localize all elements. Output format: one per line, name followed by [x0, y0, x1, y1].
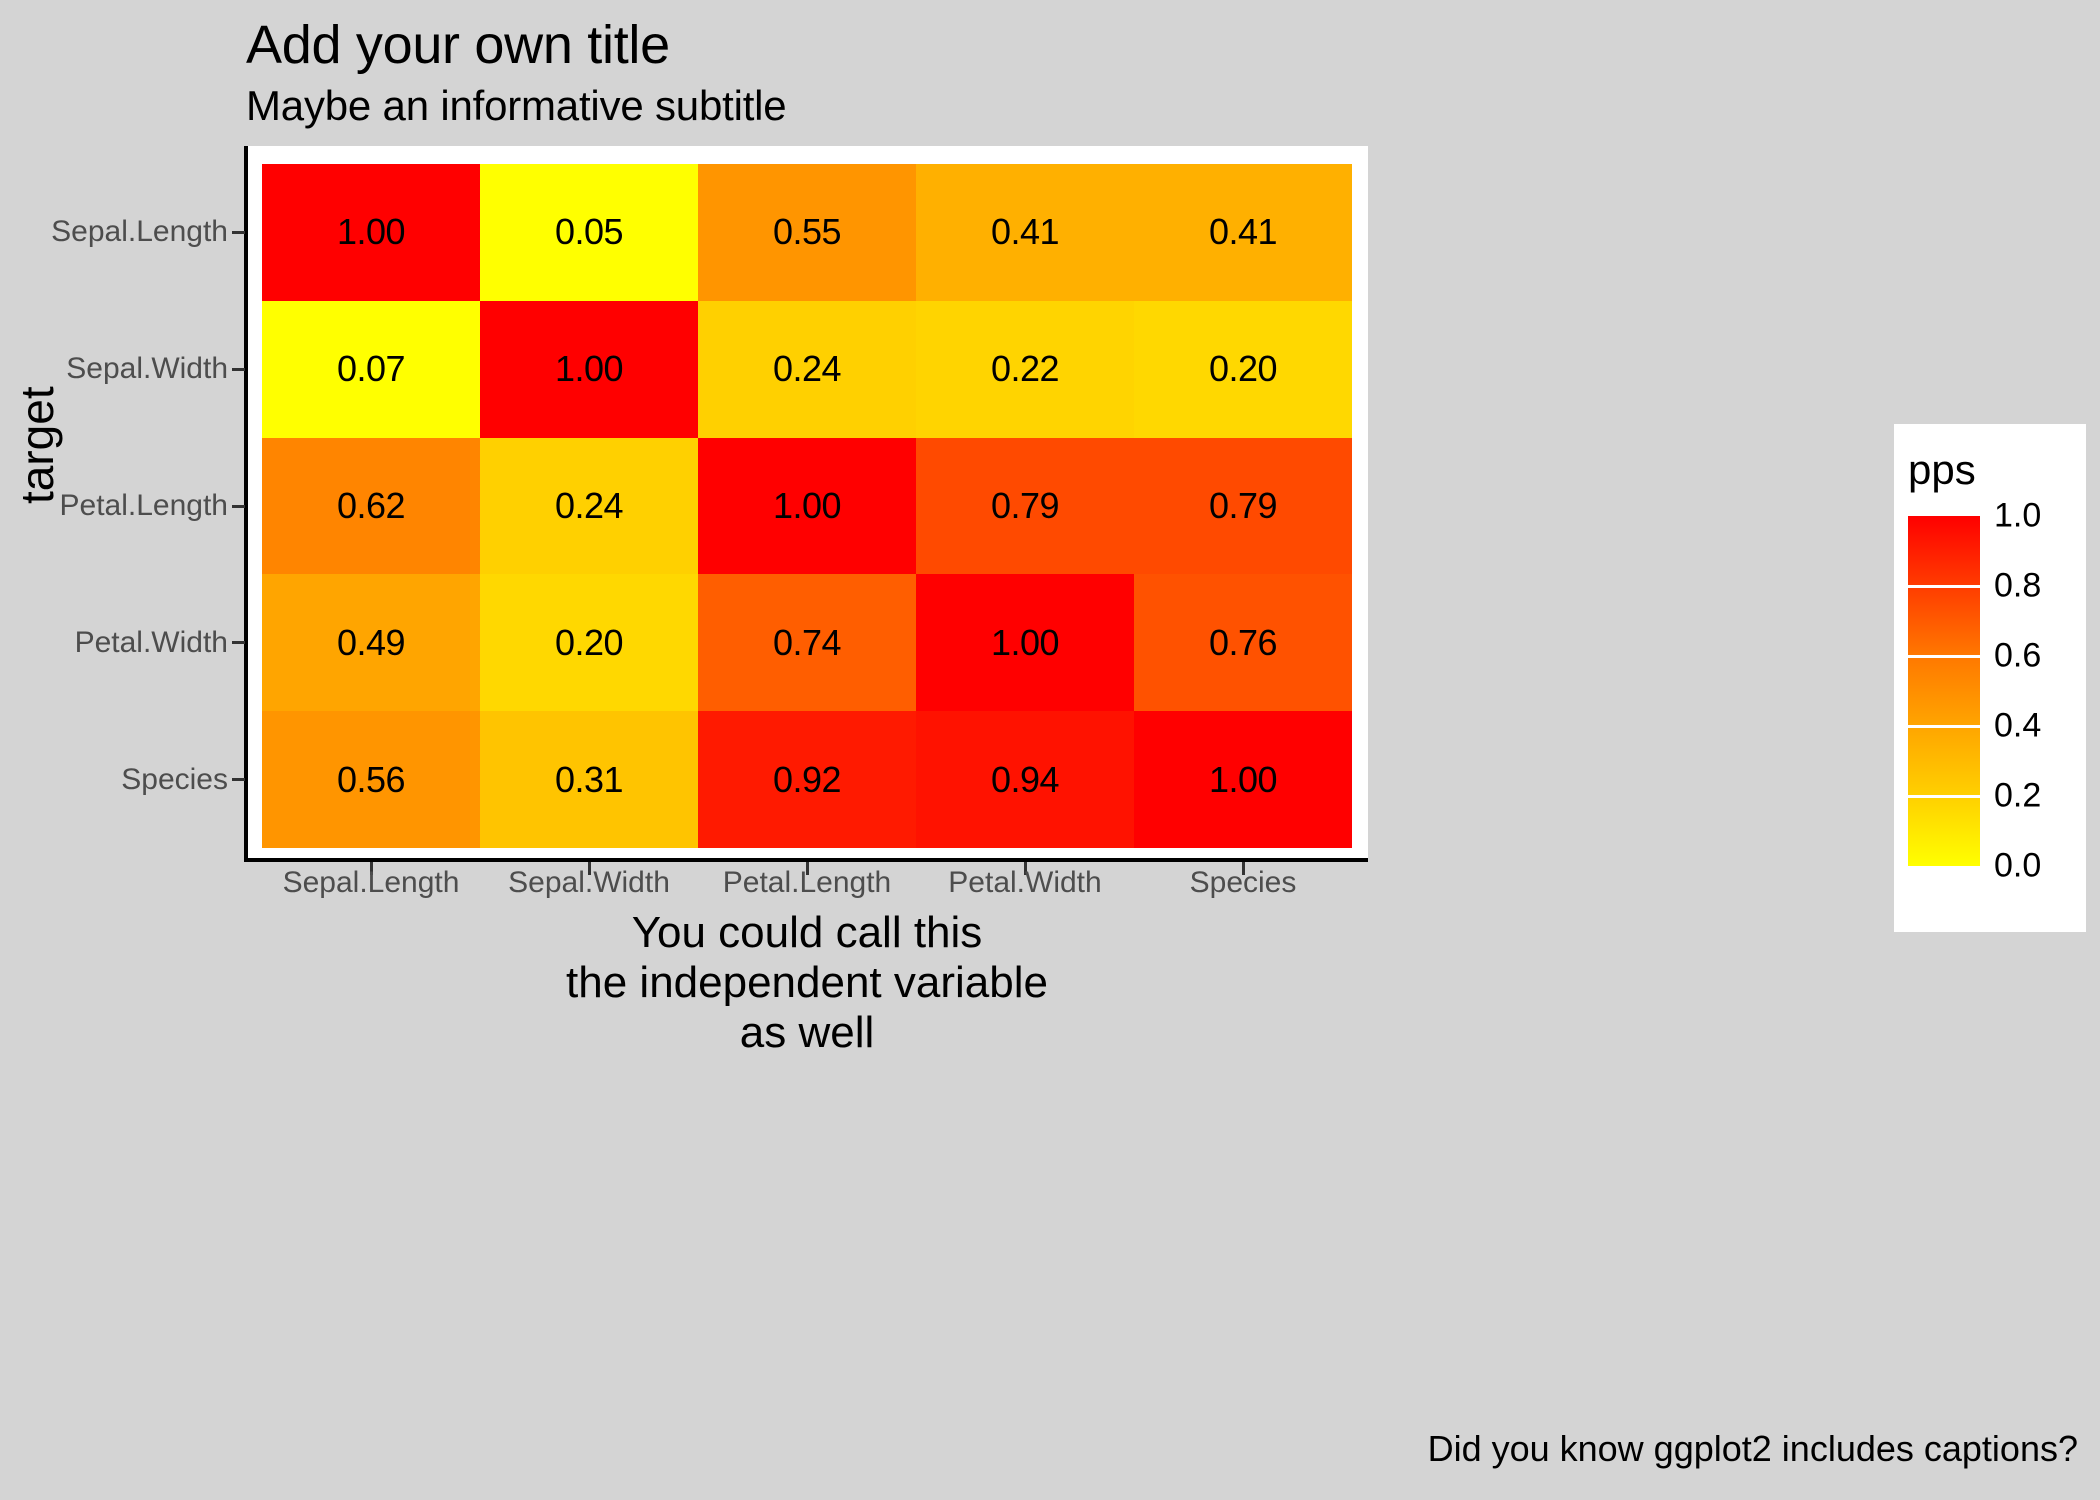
- legend-tick-label: 0.2: [1994, 777, 2041, 816]
- heatmap-cell: 0.07: [262, 301, 480, 438]
- heatmap-cell-value: 0.92: [773, 762, 841, 798]
- heatmap-cell-value: 0.05: [555, 214, 623, 250]
- heatmap-cell-value: 0.49: [337, 625, 405, 661]
- heatmap-cell-value: 0.41: [991, 214, 1059, 250]
- heatmap-cell-value: 0.07: [337, 351, 405, 387]
- legend-tick-label: 0.4: [1994, 707, 2041, 746]
- x-axis-tick-label: Sepal.Width: [508, 866, 670, 900]
- heatmap-cell: 0.76: [1134, 574, 1352, 711]
- heatmap-cell: 1.00: [916, 574, 1134, 711]
- heatmap-cell-value: 1.00: [1209, 762, 1277, 798]
- heatmap-cell-value: 0.79: [1209, 488, 1277, 524]
- heatmap-cell-value: 0.62: [337, 488, 405, 524]
- heatmap-cell-value: 0.31: [555, 762, 623, 798]
- y-axis-tick: [232, 641, 245, 644]
- heatmap-cell: 0.79: [1134, 438, 1352, 575]
- legend-tick-label: 1.0: [1994, 497, 2041, 536]
- heatmap-cell-value: 0.94: [991, 762, 1059, 798]
- heatmap-cell: 0.20: [480, 574, 698, 711]
- legend-tick-mark: [1908, 725, 1980, 728]
- x-axis-title: You could call this the independent vari…: [246, 908, 1368, 1058]
- y-axis-tick: [232, 778, 245, 781]
- x-axis-title-line-2: the independent variable: [246, 958, 1368, 1008]
- heatmap-cell-value: 0.41: [1209, 214, 1277, 250]
- heatmap-cell: 1.00: [480, 301, 698, 438]
- heatmap-cell-value: 0.24: [773, 351, 841, 387]
- legend-tick-mark: [1908, 655, 1980, 658]
- y-axis-tick-label: Petal.Length: [60, 489, 228, 523]
- heatmap-cell: 0.79: [916, 438, 1134, 575]
- y-axis-tick-label: Petal.Width: [75, 626, 228, 660]
- x-axis-title-line-1: You could call this: [246, 908, 1368, 958]
- legend-panel: pps 1.00.80.60.40.20.0: [1894, 424, 2086, 932]
- heatmap-cell: 0.20: [1134, 301, 1352, 438]
- heatmap-cell-value: 0.55: [773, 214, 841, 250]
- heatmap-cell: 0.41: [916, 164, 1134, 301]
- heatmap-cell: 0.41: [1134, 164, 1352, 301]
- heatmap-cell: 0.55: [698, 164, 916, 301]
- heatmap-cell: 0.92: [698, 711, 916, 848]
- heatmap-cell: 0.74: [698, 574, 916, 711]
- x-axis-tick-label: Species: [1190, 866, 1297, 900]
- heatmap-cell-value: 0.20: [555, 625, 623, 661]
- heatmap-cell: 0.24: [698, 301, 916, 438]
- heatmap-cell-value: 0.79: [991, 488, 1059, 524]
- heatmap-cell: 0.56: [262, 711, 480, 848]
- heatmap-cell: 0.49: [262, 574, 480, 711]
- heatmap-cell-value: 1.00: [555, 351, 623, 387]
- x-axis-tick-label: Petal.Length: [723, 866, 891, 900]
- heatmap-cell: 0.22: [916, 301, 1134, 438]
- x-axis-title-line-3: as well: [246, 1008, 1368, 1058]
- y-axis-tick: [232, 368, 245, 371]
- heatmap-cell: 0.05: [480, 164, 698, 301]
- legend-title: pps: [1908, 446, 1976, 494]
- legend-tick-label: 0.8: [1994, 567, 2041, 606]
- y-axis-tick-label: Species: [121, 763, 228, 797]
- heatmap-cell-value: 1.00: [991, 625, 1059, 661]
- heatmap-grid: 1.000.050.550.410.410.071.000.240.220.20…: [262, 164, 1352, 848]
- heatmap-cell: 0.31: [480, 711, 698, 848]
- legend-colorbar: [1908, 516, 1980, 866]
- heatmap-cell-value: 0.22: [991, 351, 1059, 387]
- plot-caption: Did you know ggplot2 includes captions?: [1428, 1428, 2078, 1470]
- heatmap-cell-value: 0.24: [555, 488, 623, 524]
- y-axis-tick: [232, 505, 245, 508]
- legend-tick-label: 0.6: [1994, 637, 2041, 676]
- heatmap-cell-value: 0.20: [1209, 351, 1277, 387]
- x-axis-tick-label: Petal.Width: [948, 866, 1101, 900]
- heatmap-cell-value: 1.00: [773, 488, 841, 524]
- y-axis-tick-label: Sepal.Width: [66, 352, 228, 386]
- legend-tick-mark: [1908, 585, 1980, 588]
- y-axis-title: target: [10, 386, 64, 504]
- heatmap-cell: 1.00: [262, 164, 480, 301]
- heatmap-cell: 1.00: [698, 438, 916, 575]
- heatmap-cell-value: 0.74: [773, 625, 841, 661]
- legend-tick-label: 0.0: [1994, 847, 2041, 886]
- plot-panel-background: 1.000.050.550.410.410.071.000.240.220.20…: [246, 146, 1368, 862]
- heatmap-cell: 0.24: [480, 438, 698, 575]
- plot-subtitle: Maybe an informative subtitle: [246, 82, 786, 130]
- y-axis-tick-label: Sepal.Length: [51, 215, 228, 249]
- heatmap-cell: 0.62: [262, 438, 480, 575]
- legend-tick-mark: [1908, 795, 1980, 798]
- heatmap-cell-value: 0.56: [337, 762, 405, 798]
- heatmap-cell: 1.00: [1134, 711, 1352, 848]
- heatmap-cell-value: 1.00: [337, 214, 405, 250]
- y-axis-tick: [232, 231, 245, 234]
- heatmap-cell-value: 0.76: [1209, 625, 1277, 661]
- x-axis-tick-label: Sepal.Length: [283, 866, 460, 900]
- plot-title: Add your own title: [246, 14, 670, 76]
- heatmap-cell: 0.94: [916, 711, 1134, 848]
